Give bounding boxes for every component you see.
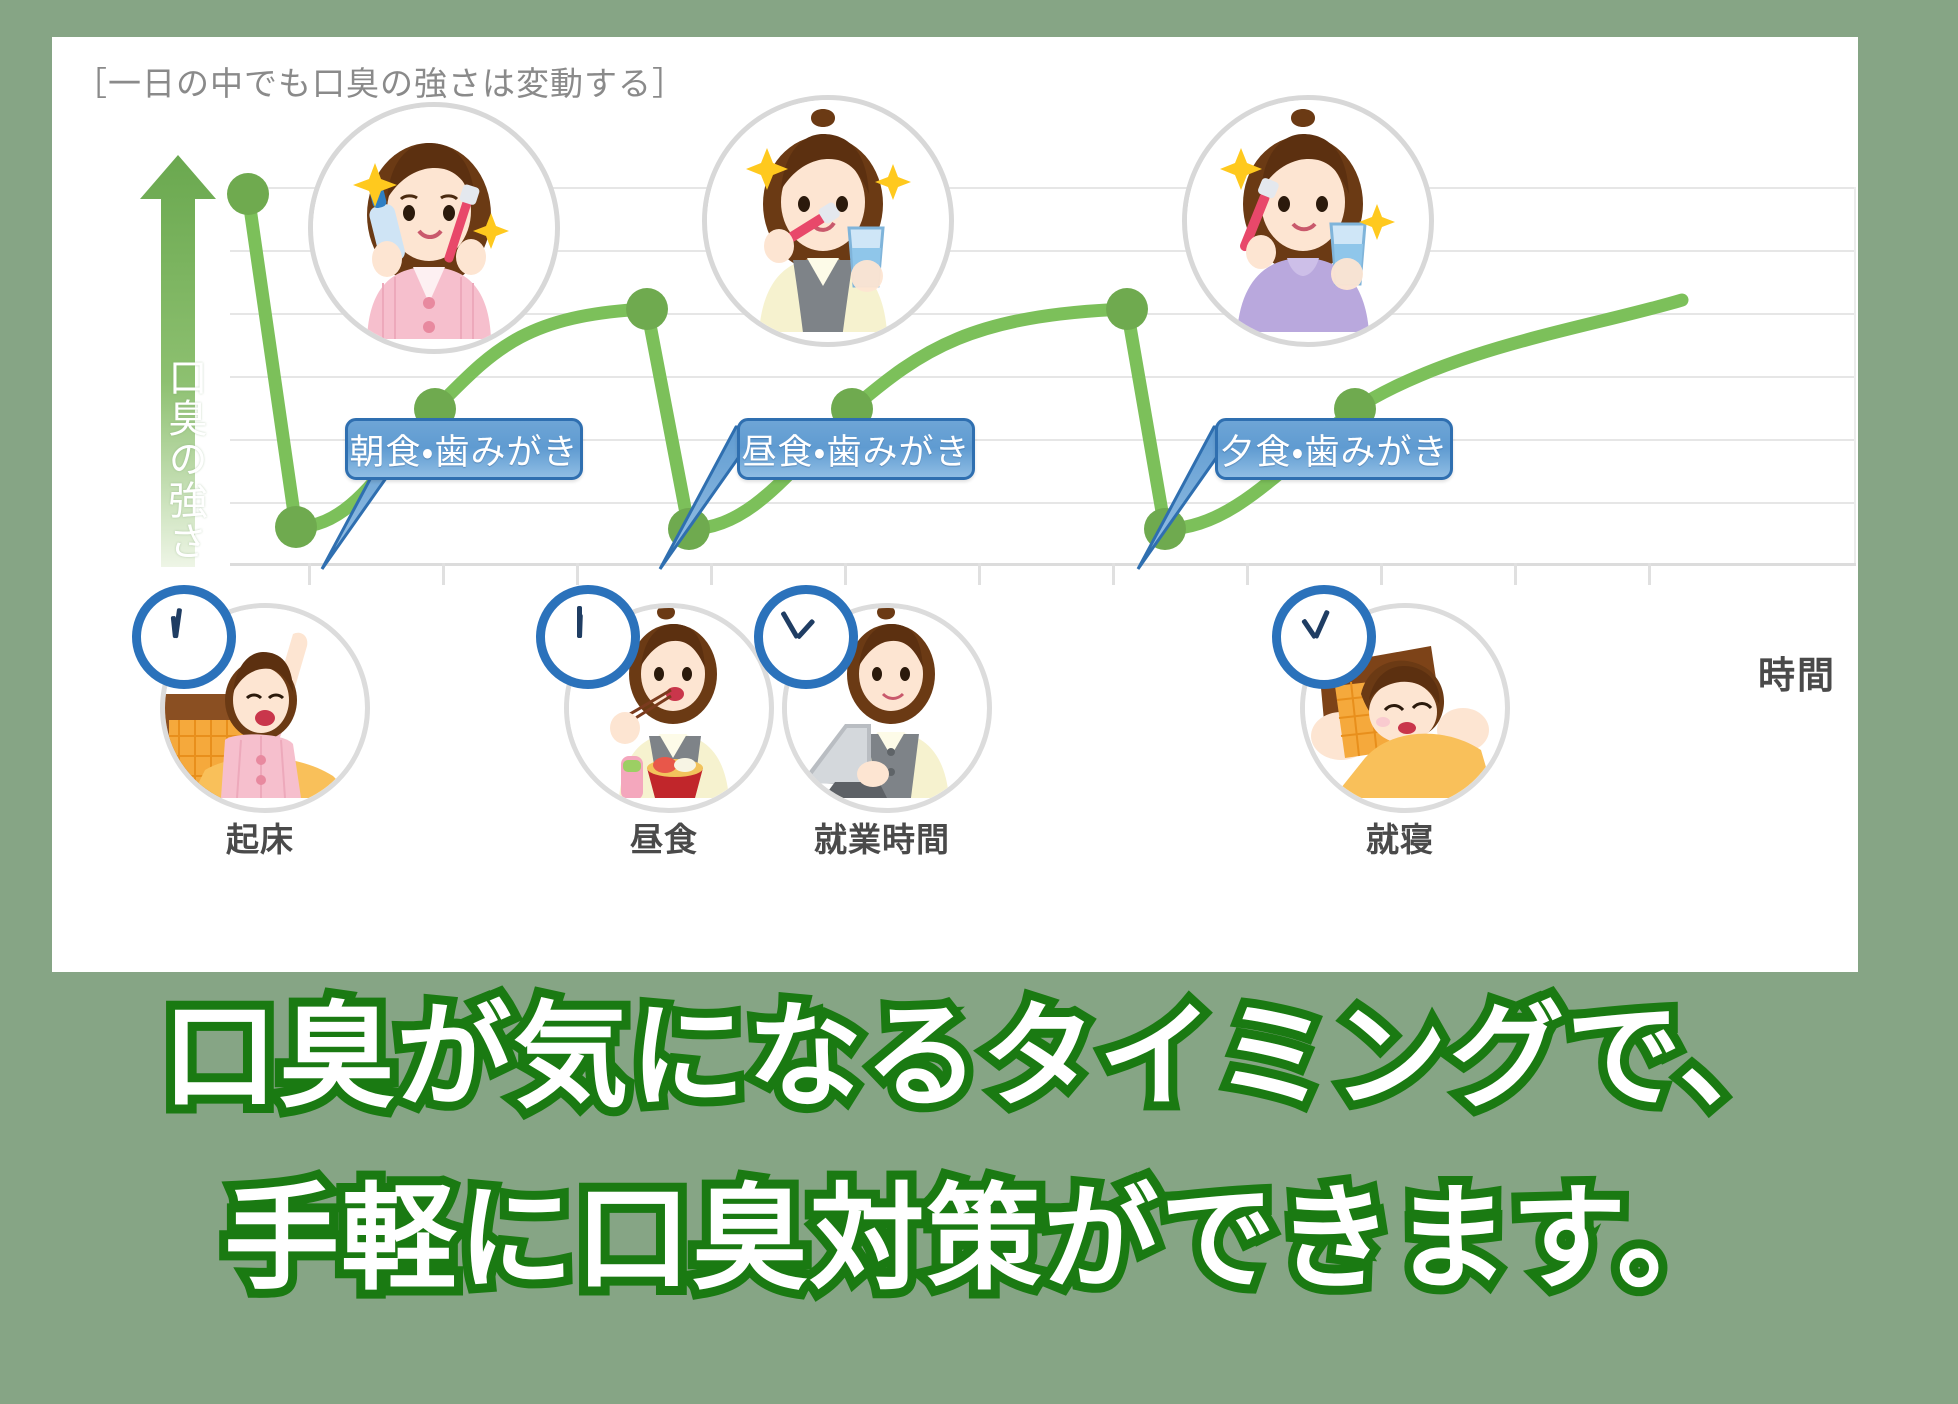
timeline-item-bedtime: 就寝 <box>1300 603 1500 853</box>
x-axis-tick <box>1112 563 1115 585</box>
timeline-item-work: 就業時間 <box>782 603 982 853</box>
clock-icon-morning <box>132 585 236 689</box>
lunch-brushing-illustration <box>702 95 954 347</box>
timeline-label-bedtime: 就寝 <box>1300 813 1500 861</box>
clock-icon-afternoon <box>754 585 858 689</box>
x-axis-label: 時間 <box>1758 645 1836 699</box>
headline-line-2: 手軽に口臭対策ができます。 <box>0 1182 1958 1297</box>
y-axis-label: 口臭の強さ <box>152 357 204 562</box>
timeline-label-work: 就業時間 <box>782 813 982 861</box>
plot-right-border <box>1854 187 1856 565</box>
headline-line-1: 口臭が気になるタイミングで、 <box>0 1000 1958 1115</box>
timeline-item-lunch: 昼食 <box>564 603 764 853</box>
callout-breakfast-label: 朝食・歯みがき <box>350 424 579 475</box>
dinner-brushing-illustration <box>1182 95 1434 347</box>
x-axis-tick <box>978 563 981 585</box>
callout-dinner-brushing[interactable]: 夕食・歯みがき <box>1215 418 1453 480</box>
callout-lunch-label: 昼食・歯みがき <box>742 424 971 475</box>
x-axis-tick <box>844 563 847 585</box>
clock-icon-noon <box>536 585 640 689</box>
callout-breakfast-brushing[interactable]: 朝食・歯みがき <box>345 418 583 480</box>
callout-lunch-brushing[interactable]: 昼食・歯みがき <box>737 418 975 480</box>
gridline <box>230 376 1856 378</box>
timeline-item-wake-up: 起床 <box>160 603 360 853</box>
breakfast-brushing-illustration <box>308 102 560 354</box>
panel-title: ［一日の中でも口臭の強さは変動する］ <box>74 57 686 105</box>
x-axis-tick <box>1380 563 1383 585</box>
clock-icon-night <box>1272 585 1376 689</box>
timeline-label-lunch: 昼食 <box>564 813 764 861</box>
timeline-label-wake-up: 起床 <box>160 813 360 861</box>
x-axis-tick <box>1514 563 1517 585</box>
x-axis-tick <box>1648 563 1651 585</box>
chart-panel: ［一日の中でも口臭の強さは変動する］ 口臭の強さ <box>52 37 1858 972</box>
x-axis-tick <box>576 563 579 585</box>
callout-dinner-label: 夕食・歯みがき <box>1220 424 1449 475</box>
